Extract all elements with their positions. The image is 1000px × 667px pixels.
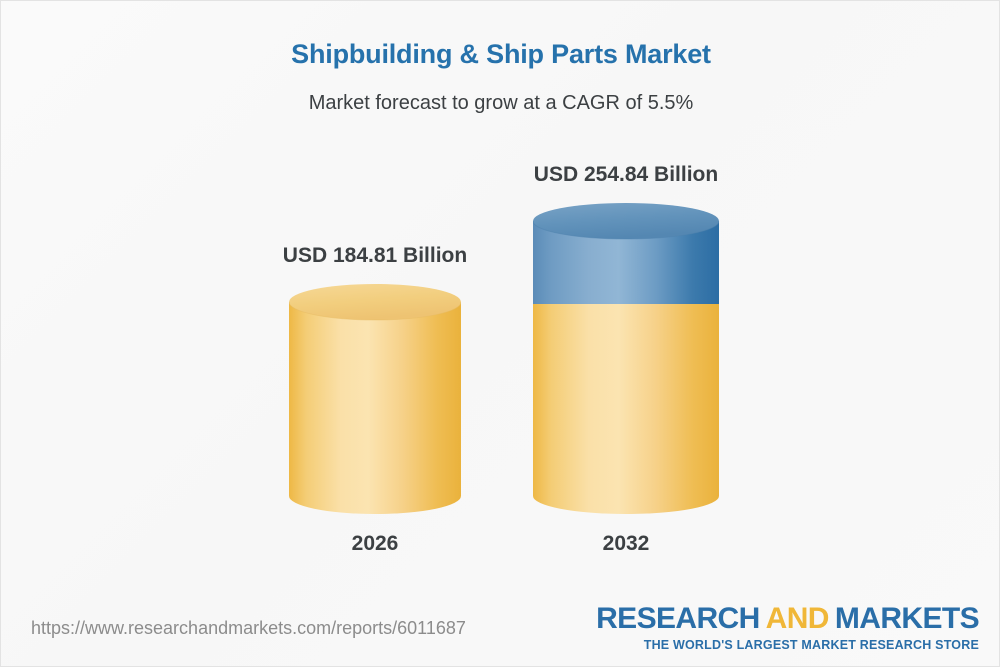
brand-word-and: AND <box>766 602 829 635</box>
cylinder-blue-2032[interactable] <box>533 203 719 514</box>
value-label-2026: USD 184.81 Billion <box>225 244 525 268</box>
footer: https://www.researchandmarkets.com/repor… <box>1 596 1000 666</box>
brand-wordmark: RESEARCHANDMARKETS <box>596 604 979 635</box>
bar-group-2026: USD 184.81 Billion 2026 <box>289 284 461 514</box>
brand-word-markets: MARKETS <box>835 602 979 635</box>
cylinder-yellow-2026[interactable] <box>289 284 461 514</box>
category-label-2032: 2032 <box>476 532 776 556</box>
bar-group-2032: USD 254.84 Billion 2032 <box>533 203 719 514</box>
source-url[interactable]: https://www.researchandmarkets.com/repor… <box>31 618 466 639</box>
plot-area: USD 184.81 Billion 2026 <box>1 1 1000 601</box>
value-label-2032: USD 254.84 Billion <box>476 163 776 187</box>
brand-word-research: RESEARCH <box>596 602 760 635</box>
brand-tagline: THE WORLD'S LARGEST MARKET RESEARCH STOR… <box>596 638 979 652</box>
brand-logo[interactable]: RESEARCHANDMARKETS THE WORLD'S LARGEST M… <box>596 604 979 652</box>
chart-canvas: Shipbuilding & Ship Parts Market Market … <box>0 0 1000 667</box>
